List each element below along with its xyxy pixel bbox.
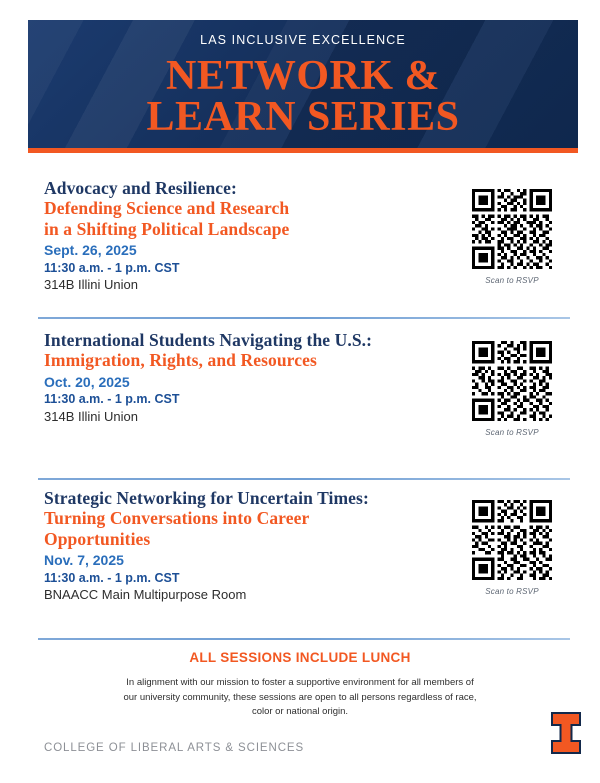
event-2-qr-caption: Scan to RSVP xyxy=(469,428,555,437)
college-name: COLLEGE OF LIBERAL ARTS & SCIENCES xyxy=(44,742,304,754)
event-2-location: 314B Illini Union xyxy=(44,409,474,426)
event-3-details: Strategic Networking for Uncertain Times… xyxy=(44,488,474,604)
banner-title-line-1: NETWORK & xyxy=(166,53,440,99)
event-3-time: 11:30 a.m. - 1 p.m. CST xyxy=(44,570,474,586)
event-3-date: Nov. 7, 2025 xyxy=(44,552,474,570)
event-3-location: BNAACC Main Multipurpose Room xyxy=(44,587,474,604)
event-2-title-part1: International Students Navigating the U.… xyxy=(44,330,474,350)
event-3-title-part2-line2: Opportunities xyxy=(44,529,474,549)
event-1-time: 11:30 a.m. - 1 p.m. CST xyxy=(44,260,444,276)
event-1-title-part2-line2: in a Shifting Political Landscape xyxy=(44,219,444,239)
inclusion-disclaimer: In alignment with our mission to foster … xyxy=(120,676,480,720)
header-banner: LAS INCLUSIVE EXCELLENCE NETWORK & LEARN… xyxy=(28,20,578,148)
event-2-date: Oct. 20, 2025 xyxy=(44,374,474,392)
event-2-time: 11:30 a.m. - 1 p.m. CST xyxy=(44,391,474,407)
event-1-details: Advocacy and Resilience: Defending Scien… xyxy=(44,178,444,294)
event-1-qr-caption: Scan to RSVP xyxy=(469,276,555,285)
section-separator-1 xyxy=(38,317,570,319)
all-sessions-include-lunch-note: ALL SESSIONS INCLUDE LUNCH xyxy=(0,650,600,665)
banner-title: NETWORK & LEARN SERIES xyxy=(147,56,460,138)
event-1-location: 314B Illini Union xyxy=(44,277,444,294)
event-2-title-part2-line1: Immigration, Rights, and Resources xyxy=(44,350,474,370)
illinois-block-i-logo xyxy=(551,712,581,754)
event-1-qr-block[interactable]: Scan to RSVP xyxy=(469,189,555,285)
banner-accent-rule xyxy=(28,148,578,153)
event-1-title-part2-line1: Defending Science and Research xyxy=(44,198,444,218)
qr-code-icon[interactable] xyxy=(472,189,552,269)
event-3-title-part1: Strategic Networking for Uncertain Times… xyxy=(44,488,474,508)
header-banner-content: LAS INCLUSIVE EXCELLENCE NETWORK & LEARN… xyxy=(28,20,578,148)
event-3-title-part2-line1: Turning Conversations into Career xyxy=(44,508,474,528)
section-separator-3 xyxy=(38,638,570,640)
qr-code-icon[interactable] xyxy=(472,500,552,580)
event-3-qr-caption: Scan to RSVP xyxy=(469,587,555,596)
event-3-qr-block[interactable]: Scan to RSVP xyxy=(469,500,555,596)
event-1-title-part1: Advocacy and Resilience: xyxy=(44,178,444,198)
banner-title-line-2: LEARN SERIES xyxy=(147,97,460,138)
section-separator-2 xyxy=(38,478,570,480)
qr-code-icon[interactable] xyxy=(472,341,552,421)
event-2-details: International Students Navigating the U.… xyxy=(44,330,474,426)
banner-eyebrow: LAS INCLUSIVE EXCELLENCE xyxy=(200,34,406,47)
event-2-qr-block[interactable]: Scan to RSVP xyxy=(469,341,555,437)
event-1-date: Sept. 26, 2025 xyxy=(44,242,444,260)
